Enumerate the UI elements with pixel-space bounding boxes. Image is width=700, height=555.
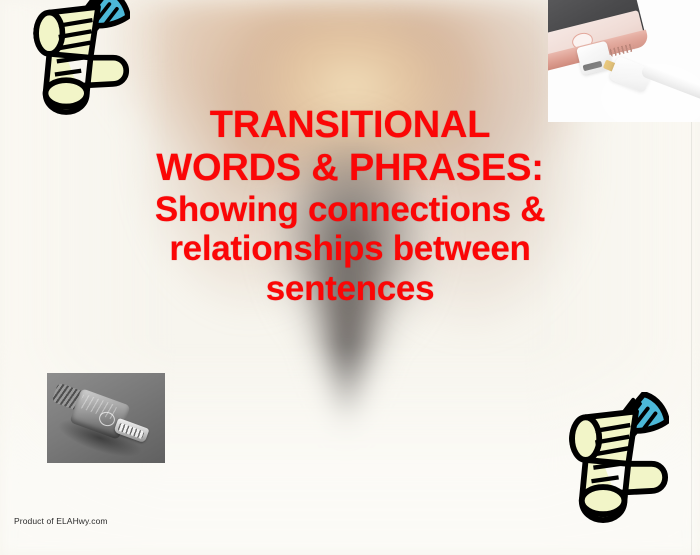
micro-usb-connector-photo	[47, 373, 165, 463]
title-line-2: WORDS & PHRASES:	[0, 147, 700, 190]
subtitle-line-1: Showing connections &	[0, 190, 700, 230]
scroll-quill-icon	[543, 392, 669, 524]
presentation-slide: TRANSITIONAL WORDS & PHRASES: Showing co…	[0, 0, 700, 555]
subtitle-line-3: sentences	[0, 269, 700, 309]
watermark-text: Product of ELAHwy.com	[14, 516, 108, 526]
scroll-quill-icon	[8, 0, 130, 116]
slide-title-block: TRANSITIONAL WORDS & PHRASES: Showing co…	[0, 104, 700, 309]
title-line-1: TRANSITIONAL	[0, 104, 700, 147]
subtitle-line-2: relationships between	[0, 229, 700, 269]
